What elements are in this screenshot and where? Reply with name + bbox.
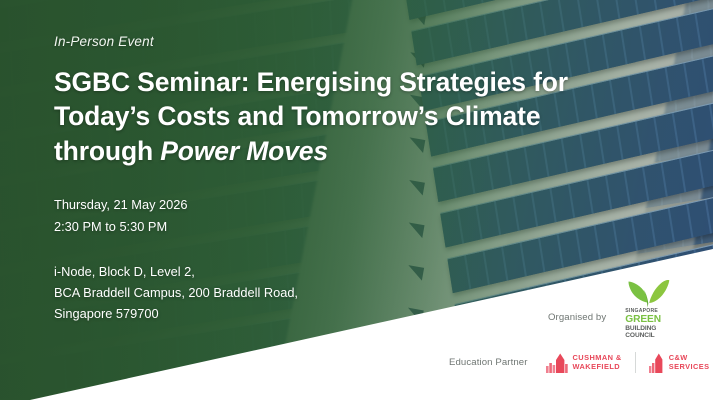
cushman-wakefield-wordmark: CUSHMAN & WAKEFIELD [573,354,622,371]
education-partner-label: Education Partner [449,357,528,368]
cushman-wakefield-bars-icon [546,353,568,373]
event-venue: i-Node, Block D, Level 2, BCA Braddell C… [54,262,634,324]
page-title: SGBC Seminar: Energising Strategies for … [54,65,634,168]
headline-emphasis: Power Moves [160,136,328,166]
cws-word-line-2: SERVICES [669,363,710,371]
venue-line-3: Singapore 579700 [54,304,634,325]
sgbc-wordmark: SINGAPORE GREEN BUILDING COUNCIL [625,309,671,340]
event-time: 2:30 PM to 5:30 PM [54,216,634,238]
partner-logo-group: CUSHMAN & WAKEFIELD C&W SERVICES [546,352,710,373]
cw-word-line-2: WAKEFIELD [573,363,622,371]
banner-content: In-Person Event SGBC Seminar: Energising… [54,34,634,324]
venue-line-1: i-Node, Block D, Level 2, [54,262,634,283]
event-format-label: In-Person Event [54,34,634,49]
logo-divider [635,352,636,373]
sgbc-word-council: COUNCIL [625,333,671,340]
organised-by-label: Organised by [548,312,606,323]
cw-services-bars-icon [649,353,664,373]
green-leaf-sprout-icon [625,280,671,308]
event-date: Thursday, 21 May 2026 [54,194,634,216]
cw-services-logo: C&W SERVICES [649,353,710,373]
event-datetime: Thursday, 21 May 2026 2:30 PM to 5:30 PM [54,194,634,238]
event-banner: In-Person Event SGBC Seminar: Energising… [0,0,713,400]
cw-services-wordmark: C&W SERVICES [669,354,710,371]
cushman-wakefield-logo: CUSHMAN & WAKEFIELD [546,353,622,373]
education-partner-row: Education Partner CUSHMAN & WAKEFIELD [449,352,710,373]
sgbc-word-green: GREEN [625,315,671,325]
organised-by-row: Organised by SINGAPORE GREEN BUILDING CO… [548,296,676,340]
sgbc-logo: SINGAPORE GREEN BUILDING COUNCIL [620,280,676,340]
venue-line-2: BCA Braddell Campus, 200 Braddell Road, [54,283,634,304]
